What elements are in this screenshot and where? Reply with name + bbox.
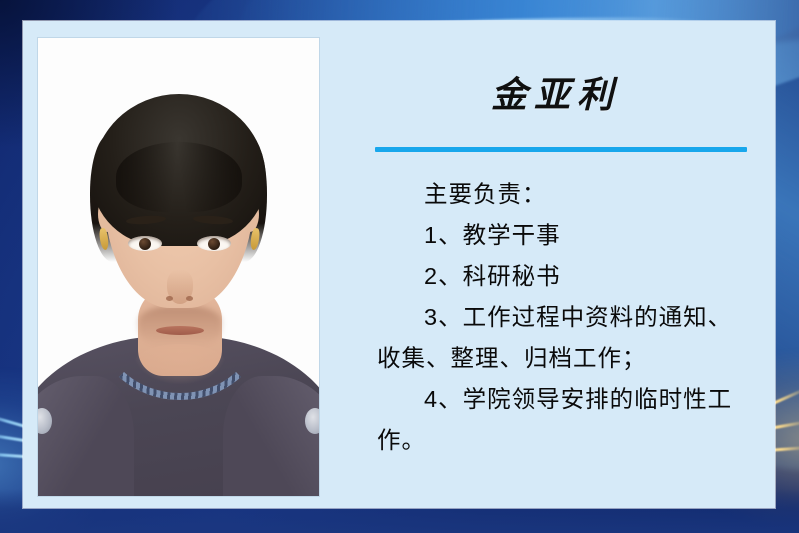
responsibility-item-3: 3、工作过程中资料的通知、收集、整理、归档工作； (377, 297, 755, 379)
responsibility-item-4: 4、学院领导安排的临时性工作。 (377, 379, 755, 461)
presentation-slide: 金亚利 主要负责： 1、教学干事 2、科研秘书 3、工作过程中资料的通知、收集、… (0, 0, 799, 533)
portrait-photo (38, 38, 319, 496)
responsibility-item-2: 2、科研秘书 (377, 256, 755, 297)
person-name-title: 金亚利 (353, 66, 758, 118)
photo-mouth (156, 326, 204, 335)
text-column: 金亚利 主要负责： 1、教学干事 2、科研秘书 3、工作过程中资料的通知、收集、… (353, 38, 758, 496)
responsibilities-heading: 主要负责： (377, 174, 755, 215)
photo-bangs (116, 142, 242, 212)
photo-shoulder-right (223, 376, 319, 496)
photo-garment-button (305, 408, 319, 434)
photo-pupil-right (208, 238, 220, 250)
photo-shoulder-left (38, 376, 134, 496)
photo-pupil-left (139, 238, 151, 250)
responsibilities-block: 主要负责： 1、教学干事 2、科研秘书 3、工作过程中资料的通知、收集、整理、归… (377, 174, 755, 461)
responsibility-item-1: 1、教学干事 (377, 215, 755, 256)
title-divider (375, 147, 747, 152)
content-panel: 金亚利 主要负责： 1、教学干事 2、科研秘书 3、工作过程中资料的通知、收集、… (23, 21, 775, 508)
photo-nostril-left (166, 296, 173, 301)
photo-nostril-right (186, 296, 193, 301)
photo-chin (134, 344, 226, 384)
